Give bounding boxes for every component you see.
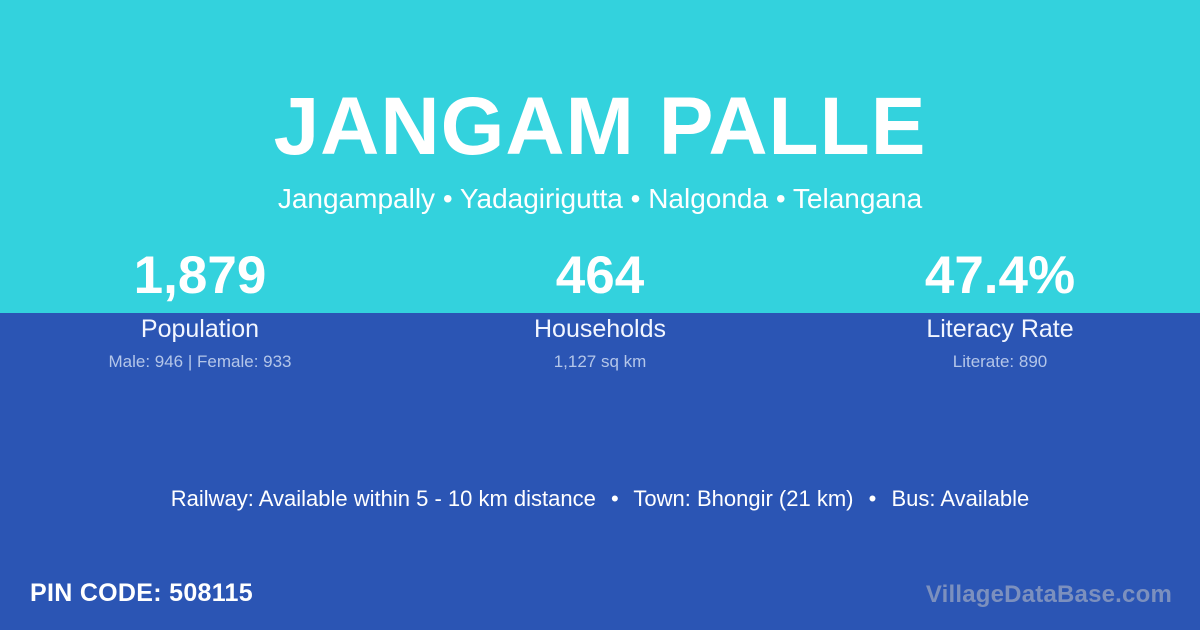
brand-watermark: VillageDataBase.com [926,580,1172,610]
stat-literacy-rate-value: 47.4% [800,246,1200,308]
stat-literacy-rate: 47.4% Literacy Rate Literate: 890 [800,246,1200,372]
stat-population-label: Population [0,314,400,344]
village-info-card: JANGAM PALLE Jangampally • Yadagirigutta… [0,0,1200,630]
amenities-info-line: Railway: Available within 5 - 10 km dist… [0,484,1200,514]
stat-households: 464 Households 1,127 sq km [400,246,800,372]
stat-population: 1,879 Population Male: 946 | Female: 933 [0,246,400,372]
stat-households-sub: 1,127 sq km [400,351,800,372]
location-breadcrumb: Jangampally • Yadagirigutta • Nalgonda •… [0,182,1200,216]
stat-population-value: 1,879 [0,246,400,308]
stats-row: 1,879 Population Male: 946 | Female: 933… [0,246,1200,372]
stat-households-label: Households [400,314,800,344]
stat-literacy-rate-label: Literacy Rate [800,314,1200,344]
pin-code: PIN CODE: 508115 [30,577,253,609]
bullet-separator-icon: • [860,486,886,511]
info-bus: Bus: Available [891,486,1029,511]
stat-population-sub: Male: 946 | Female: 933 [0,351,400,372]
stat-literacy-rate-sub: Literate: 890 [800,351,1200,372]
stat-households-value: 464 [400,246,800,308]
page-title: JANGAM PALLE [0,84,1200,170]
info-railway: Railway: Available within 5 - 10 km dist… [171,486,596,511]
bullet-separator-icon: • [602,486,628,511]
info-town: Town: Bhongir (21 km) [633,486,853,511]
